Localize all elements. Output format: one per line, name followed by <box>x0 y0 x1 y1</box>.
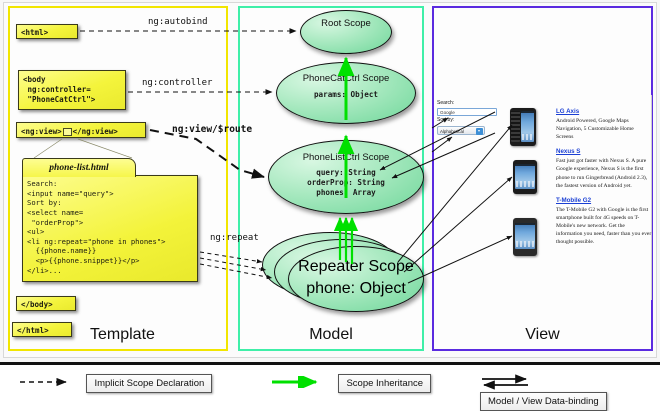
list-item: Nexus S Fast just got faster with Nexus … <box>556 148 652 189</box>
phone-statusbar <box>521 111 534 113</box>
code-ngview-close: </ng:view> <box>73 127 118 136</box>
phone-app-icons <box>516 241 534 247</box>
code-body-open: <body ng:controller= "PhoneCatCtrl"> <box>18 70 126 110</box>
connector-label-autobind: ng:autobind <box>148 17 208 27</box>
list-item: T-Mobile G2 The T-Mobile G2 with Google … <box>556 197 652 247</box>
note-code: Search: <input name="query"> Sort by: <s… <box>22 175 198 282</box>
phone-name-link[interactable]: T-Mobile G2 <box>556 197 652 204</box>
scope-root-label: Root Scope <box>301 19 391 30</box>
search-label: Search: <box>437 100 499 108</box>
phone-list-note: phone-list.html Search: <input name="que… <box>22 158 198 290</box>
scope-repeater-stack: Repeater Scope phone: Object <box>262 232 432 318</box>
phone-listing: LG Axis Android Powered, Google Maps Nav… <box>556 108 652 253</box>
phone-snippet: The T-Mobile G2 with Google is the first… <box>556 206 652 247</box>
phone-screen <box>515 223 535 249</box>
legend-item-implicit-scope-declaration: Implicit Scope Declaration <box>18 373 212 393</box>
list-item: LG Axis Android Powered, Google Maps Nav… <box>556 108 652 141</box>
search-input[interactable]: Google <box>437 108 497 116</box>
phone-screen <box>521 111 534 142</box>
phone-screen <box>515 164 535 189</box>
phone-statusbar <box>515 223 535 225</box>
sort-select-value: Alphabetical <box>440 129 464 134</box>
panel-label-model: Model <box>240 326 422 344</box>
scope-phonecatctrl-props: params: Object <box>277 90 415 100</box>
note-title: phone-list.html <box>22 158 136 177</box>
code-html-close: </html> <box>12 322 72 337</box>
phone-name-link[interactable]: LG Axis <box>556 108 652 115</box>
code-ngview-open: <ng:view> <box>21 127 62 136</box>
code-html-open: <html> <box>16 24 78 39</box>
scope-repeater-label: Repeater Scope <box>289 258 423 276</box>
legend-item-scope-inheritance: Scope Inheritance <box>270 373 431 393</box>
connector-label-repeat: ng:repeat <box>210 233 259 243</box>
sort-select[interactable]: Alphabetical <box>437 126 485 135</box>
phone-app-icons <box>522 134 533 140</box>
dashed-arrow-icon <box>18 376 76 388</box>
code-ngview: <ng:view></ng:view> <box>16 122 146 138</box>
sort-label: Sort by: <box>437 117 499 125</box>
legend: Implicit Scope Declaration Scope Inherit… <box>0 365 660 405</box>
scope-repeater-props: phone: Object <box>289 280 423 298</box>
code-body-close: </body> <box>16 296 76 311</box>
phone-name-link[interactable]: Nexus S <box>556 148 652 155</box>
scope-repeater: Repeater Scope phone: Object <box>288 246 424 312</box>
phone-statusbar <box>515 164 535 166</box>
connector-label-controller: ng:controller <box>142 78 212 88</box>
scope-phonecatctrl-label: PhoneCatCtrl Scope <box>277 74 415 85</box>
scope-phonelistctrl-props: query: String orderProp: String phones: … <box>269 168 423 198</box>
phone-thumbnail-nexus-s <box>513 160 537 194</box>
legend-label: Scope Inheritance <box>338 374 431 393</box>
connector-label-ngview-route: ng:view/$route <box>172 124 252 135</box>
legend-label: Implicit Scope Declaration <box>86 374 212 393</box>
legend-label: Model / View Data-binding <box>480 392 607 411</box>
ngview-slot-icon <box>63 128 72 136</box>
scope-phonelistctrl: PhoneListCtrl Scope query: String orderP… <box>268 140 424 214</box>
scope-phonecatctrl: PhoneCatCtrl Scope params: Object <box>276 62 416 124</box>
phone-thumbnail-lg-axis <box>510 108 536 146</box>
chevron-down-icon <box>476 128 483 135</box>
phone-thumbnail-t-mobile-g2 <box>513 218 537 256</box>
phone-snippet: Fast just got faster with Nexus S. A pur… <box>556 157 652 189</box>
double-arrow-icon <box>480 374 538 390</box>
panel-label-view: View <box>434 326 651 344</box>
legend-item-model-view-data-binding: Model / View Data-binding <box>480 373 660 393</box>
view-search-form: Search: Google Sort by: Alphabetical <box>437 100 499 135</box>
diagram-stage: Template <html> <body ng:controller= "Ph… <box>0 0 660 405</box>
green-arrow-icon <box>270 376 328 388</box>
phone-snippet: Android Powered, Google Maps Navigation,… <box>556 117 652 141</box>
diagram-frame: Template <html> <body ng:controller= "Ph… <box>0 0 660 362</box>
phone-keyboard <box>511 111 520 142</box>
phone-app-icons <box>516 181 534 187</box>
scope-root: Root Scope <box>300 10 392 54</box>
scope-phonelistctrl-label: PhoneListCtrl Scope <box>269 153 423 164</box>
